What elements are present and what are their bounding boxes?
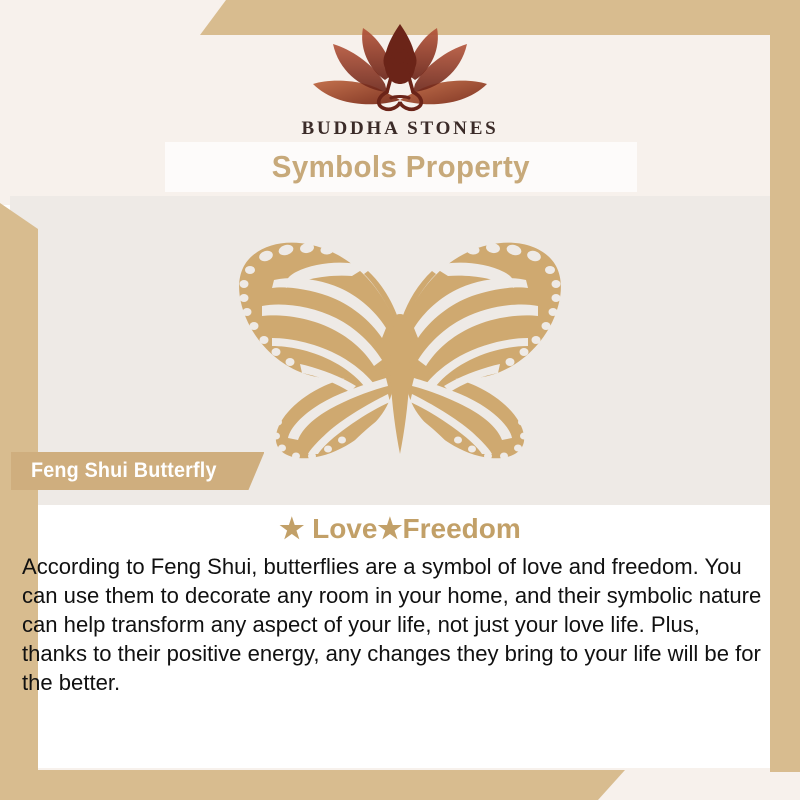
section-tab-feng-shui-butterfly: Feng Shui Butterfly <box>11 452 264 490</box>
frame-band-bottom <box>0 770 625 800</box>
butterfly-icon <box>214 228 586 460</box>
content-subheading: ★ Love★Freedom <box>0 512 800 545</box>
content-paragraph: According to Feng Shui, butterflies are … <box>22 552 769 697</box>
poster-root: BUDDHA STONES Symbols Property <box>0 0 800 800</box>
page-title: Symbols Property <box>272 149 530 185</box>
brand-logo: BUDDHA STONES <box>0 22 800 140</box>
brand-name: BUDDHA STONES <box>0 118 800 140</box>
butterfly-illustration <box>0 228 800 465</box>
lotus-meditation-figure-icon <box>305 22 495 114</box>
page-title-band: Symbols Property <box>165 142 637 192</box>
section-tab-label: Feng Shui Butterfly <box>31 459 217 483</box>
